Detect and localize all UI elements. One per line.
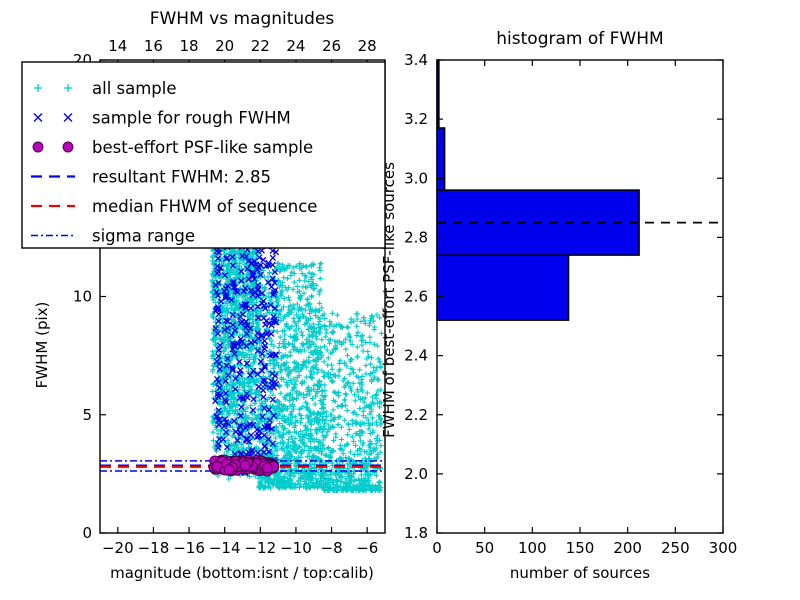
left-xtick-label: −8 — [321, 539, 343, 557]
circle-icon — [63, 142, 73, 152]
right-ytick-label: 2.8 — [404, 228, 428, 246]
left-xtick-label: −14 — [209, 539, 241, 557]
left-xtick-top-label: 20 — [215, 37, 234, 55]
left-xtick-label: −10 — [280, 539, 312, 557]
left-xtick-label: −12 — [244, 539, 276, 557]
right-ytick-label: 3.2 — [404, 110, 428, 128]
right-ytick-label: 2.4 — [404, 347, 428, 365]
right-xtick-label: 0 — [432, 539, 442, 557]
left-xtick-label: −16 — [173, 539, 205, 557]
legend-box: all samplesample for rough FWHMbest-effo… — [22, 62, 385, 248]
legend-label: sample for rough FWHM — [92, 109, 291, 128]
left-xtick-label: −20 — [102, 539, 134, 557]
left-xtick-top-label: 24 — [286, 37, 305, 55]
legend-label: resultant FWHM: 2.85 — [92, 168, 271, 187]
legend-label: all sample — [92, 79, 177, 98]
right-ytick-label: 2.2 — [404, 406, 428, 424]
legend-label: sigma range — [92, 227, 195, 246]
left-xtick-top-label: 26 — [322, 37, 341, 55]
right-xtick-label: 50 — [475, 539, 494, 557]
left-xaxis-label: magnitude (bottom:isnt / top:calib) — [110, 564, 374, 582]
right-ytick-label: 1.8 — [404, 524, 428, 542]
left-xtick-top-label: 18 — [180, 37, 199, 55]
right-ytick-label: 3.4 — [404, 51, 428, 69]
left-xtick-label: −6 — [356, 539, 378, 557]
right-ytick-label: 3.0 — [404, 169, 428, 187]
left-xtick-top-label: 22 — [251, 37, 270, 55]
legend-label: best-effort PSF-like sample — [92, 138, 313, 157]
left-ytick-label: 10 — [73, 288, 92, 306]
left-xtick-top-label: 16 — [144, 37, 163, 55]
left-ytick-label: 0 — [82, 524, 92, 542]
left-xtick-top-label: 28 — [358, 37, 377, 55]
left-xtick-label: −18 — [138, 539, 170, 557]
matplotlib-figure: −20−18−16−14−12−10−8−6 1416182022242628 … — [0, 0, 800, 600]
histogram-bar — [437, 255, 569, 320]
series-psf-like — [209, 455, 278, 476]
left-xtick-top-label: 14 — [108, 37, 127, 55]
right-xtick-label: 200 — [613, 539, 642, 557]
right-ytick-label: 2.0 — [404, 465, 428, 483]
right-xaxis-label: number of sources — [510, 564, 650, 582]
right-xtick-label: 150 — [566, 539, 595, 557]
right-xtick-label: 250 — [661, 539, 690, 557]
figure-canvas: −20−18−16−14−12−10−8−6 1416182022242628 … — [0, 0, 800, 600]
left-yaxis-label: FWHM (pix) — [33, 302, 51, 389]
circle-icon — [33, 142, 43, 152]
histogram-bar — [437, 128, 445, 190]
right-xtick-label: 300 — [709, 539, 738, 557]
right-xtick-label: 100 — [518, 539, 547, 557]
left-ytick-label: 5 — [82, 406, 92, 424]
legend-label: median FHWM of sequence — [92, 197, 317, 216]
right-ytick-label: 2.6 — [404, 288, 428, 306]
left-panel-title: FWHM vs magnitudes — [150, 9, 335, 29]
right-panel-title: histogram of FWHM — [496, 29, 663, 49]
